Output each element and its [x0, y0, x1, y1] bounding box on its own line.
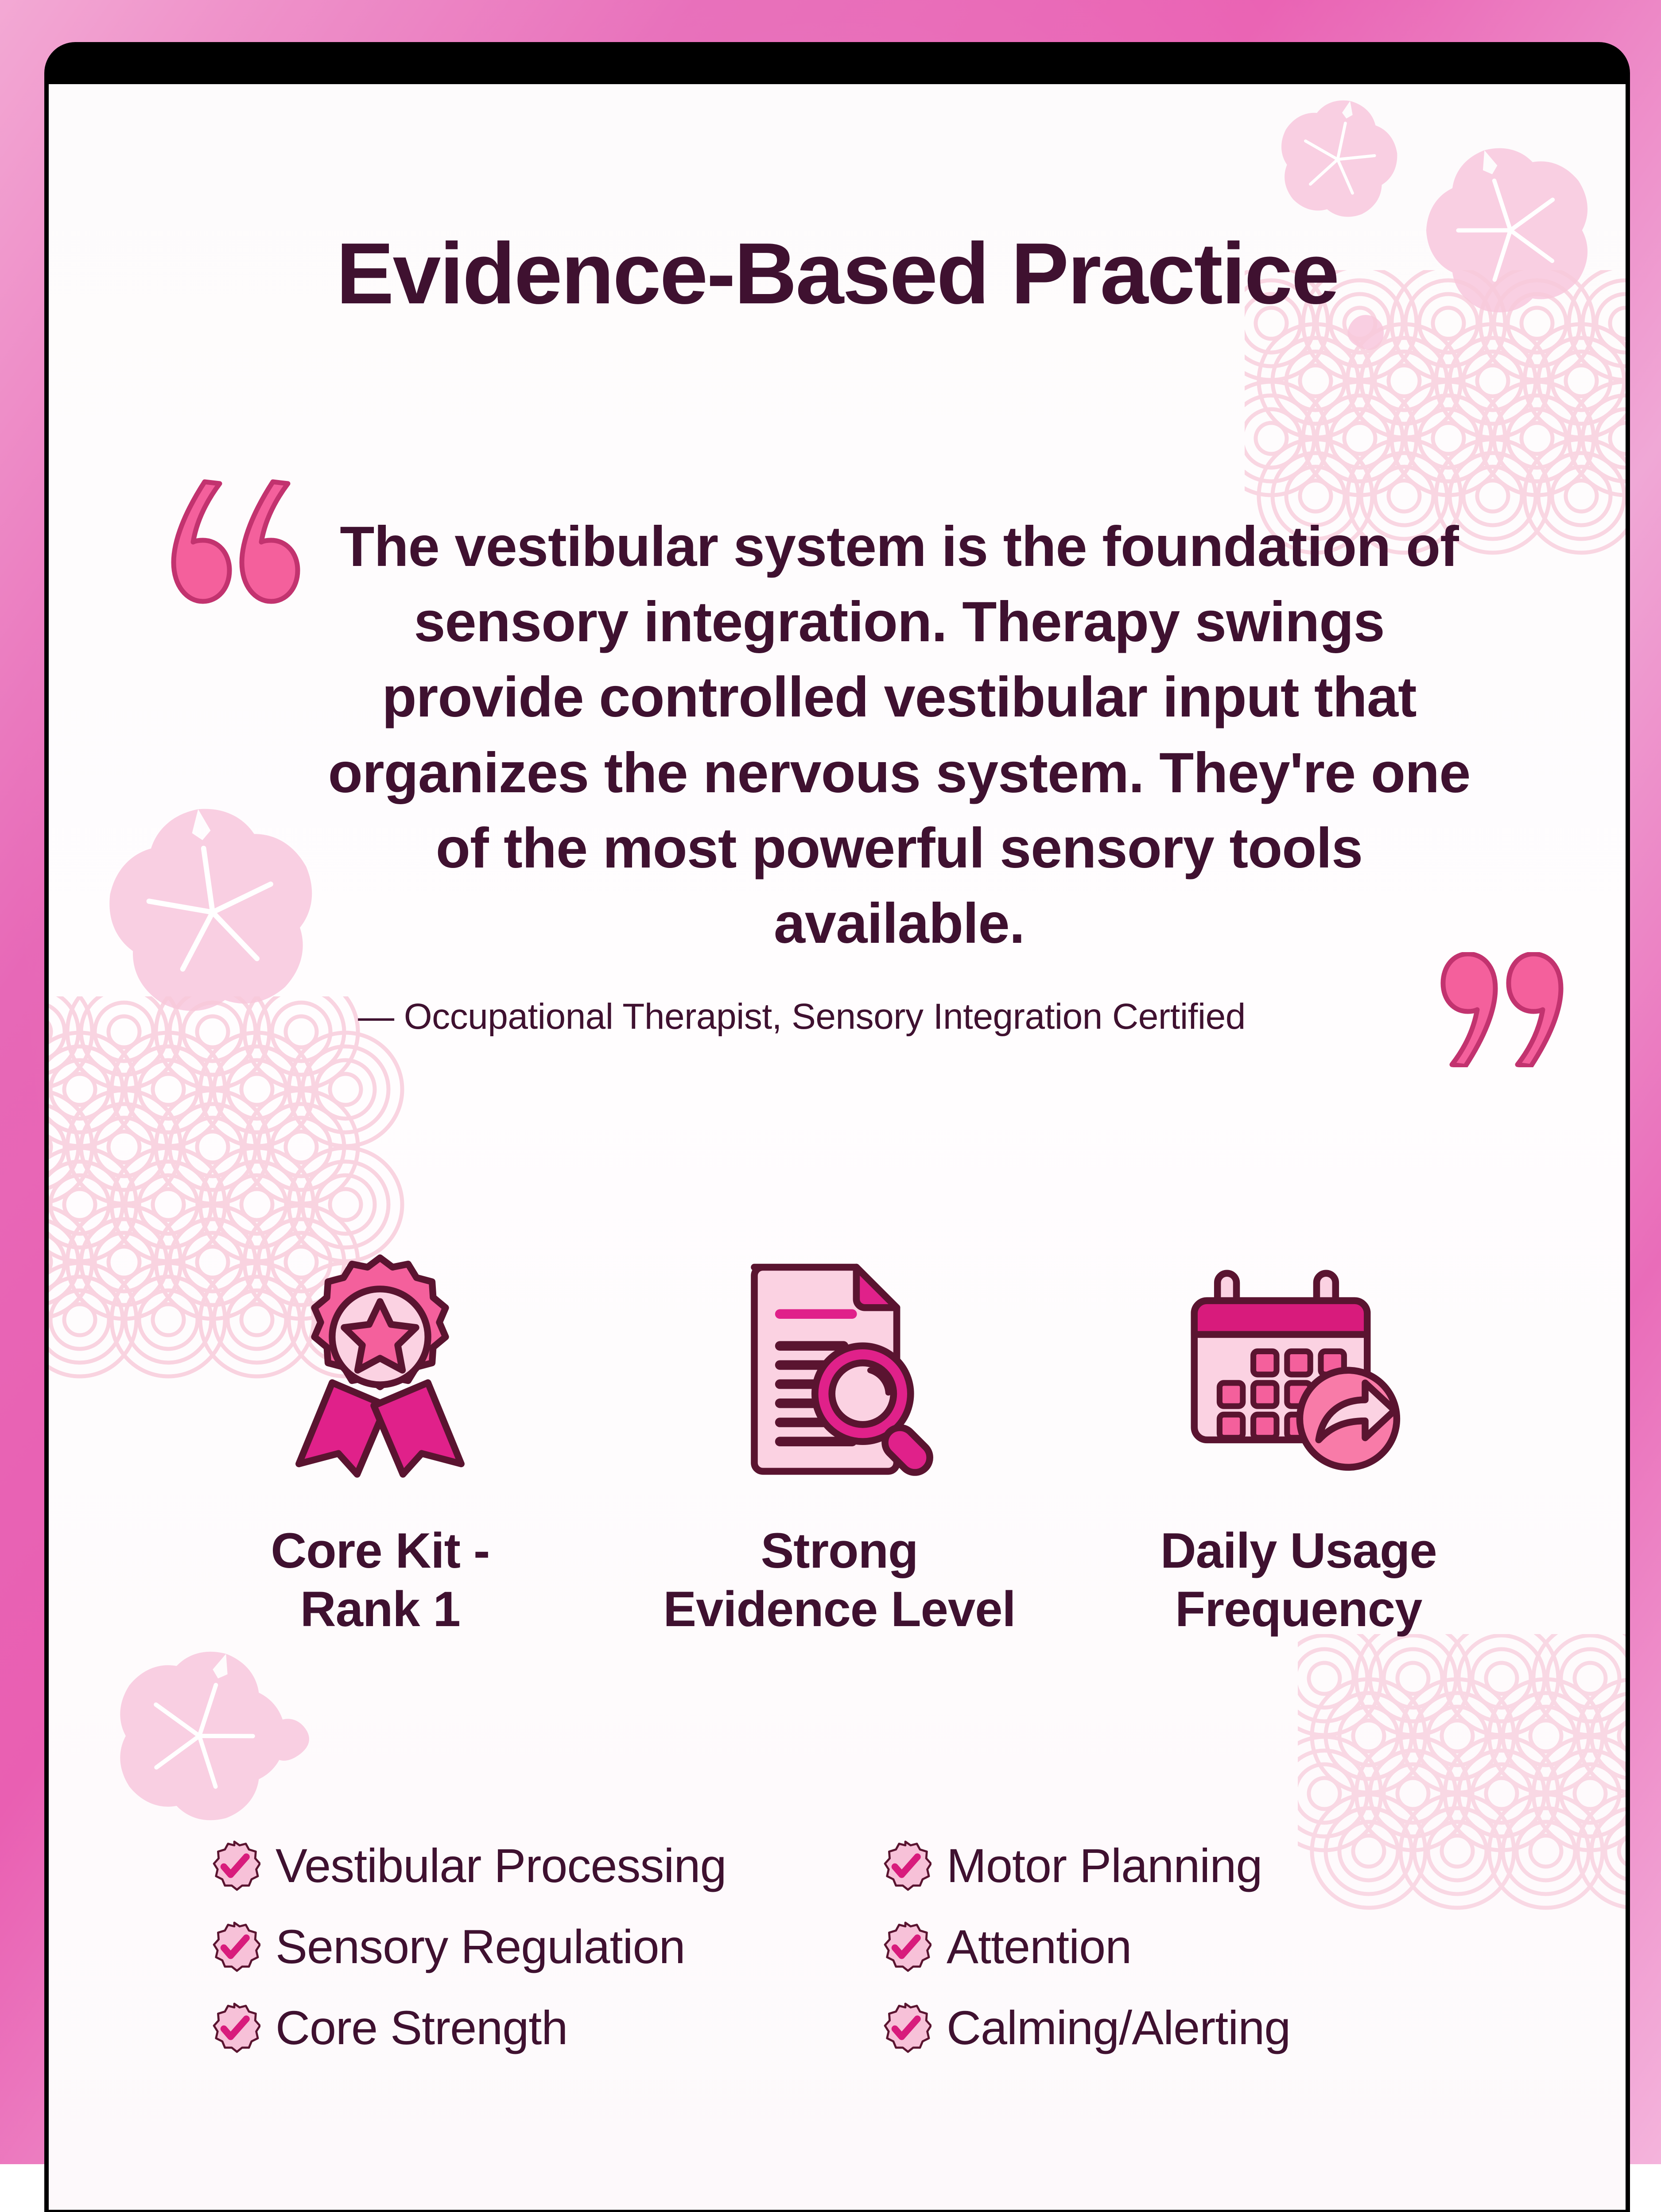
feature-row: Core Kit - Rank 1 [151, 1218, 1528, 1639]
quote-text: The vestibular system is the foundation … [195, 509, 1493, 961]
checklist-item: Sensory Regulation [208, 1919, 879, 1974]
checklist-label: Motor Planning [947, 1838, 1262, 1893]
checklist-item: Calming/Alerting [879, 2000, 1550, 2055]
poster-card: Evidence-Based Practice The vestibular s… [49, 84, 1626, 2210]
feature-evidence-level: Strong Evidence Level [610, 1218, 1069, 1639]
checklist-label: Calming/Alerting [947, 2000, 1290, 2055]
checklist-item: Core Strength [208, 2000, 879, 2055]
checklist-label: Attention [947, 1919, 1131, 1974]
check-badge-icon [879, 1840, 931, 1892]
page-title: Evidence-Based Practice [49, 230, 1626, 317]
feature-label: Core Kit - Rank 1 [151, 1522, 610, 1639]
check-badge-icon [879, 1921, 931, 1973]
calendar-arrow-icon [1069, 1218, 1528, 1510]
feature-label-line1: Core Kit - [271, 1523, 489, 1578]
checklist-label: Sensory Regulation [276, 1919, 685, 1974]
feature-label-line2: Rank 1 [300, 1581, 460, 1637]
feature-core-kit: Core Kit - Rank 1 [151, 1218, 610, 1639]
check-badge-icon [879, 2002, 931, 2054]
open-quote-icon [146, 474, 314, 607]
feature-label-line2: Frequency [1175, 1581, 1422, 1637]
close-quote-icon [1440, 952, 1586, 1067]
check-badge-icon [208, 2002, 260, 2054]
checklist-item: Attention [879, 1919, 1550, 1974]
benefits-checklist: Vestibular Processing Motor Planning Sen… [208, 1838, 1550, 2055]
feature-label-line1: Daily Usage [1160, 1523, 1437, 1578]
document-search-icon [610, 1218, 1069, 1510]
feature-label: Strong Evidence Level [610, 1522, 1069, 1639]
checklist-label: Vestibular Processing [276, 1838, 726, 1893]
quote-attribution: — Occupational Therapist, Sensory Integr… [195, 996, 1493, 1038]
checklist-label: Core Strength [276, 2000, 567, 2055]
checklist-item: Vestibular Processing [208, 1838, 879, 1893]
checklist-item: Motor Planning [879, 1838, 1550, 1893]
feature-label: Daily Usage Frequency [1069, 1522, 1528, 1639]
feature-usage-frequency: Daily Usage Frequency [1069, 1218, 1528, 1639]
quote-block: The vestibular system is the foundation … [195, 509, 1493, 1038]
check-badge-icon [208, 1840, 260, 1892]
check-badge-icon [208, 1921, 260, 1973]
award-ribbon-icon [151, 1218, 610, 1510]
feature-label-line2: Evidence Level [663, 1581, 1015, 1637]
feature-label-line1: Strong [761, 1523, 918, 1578]
